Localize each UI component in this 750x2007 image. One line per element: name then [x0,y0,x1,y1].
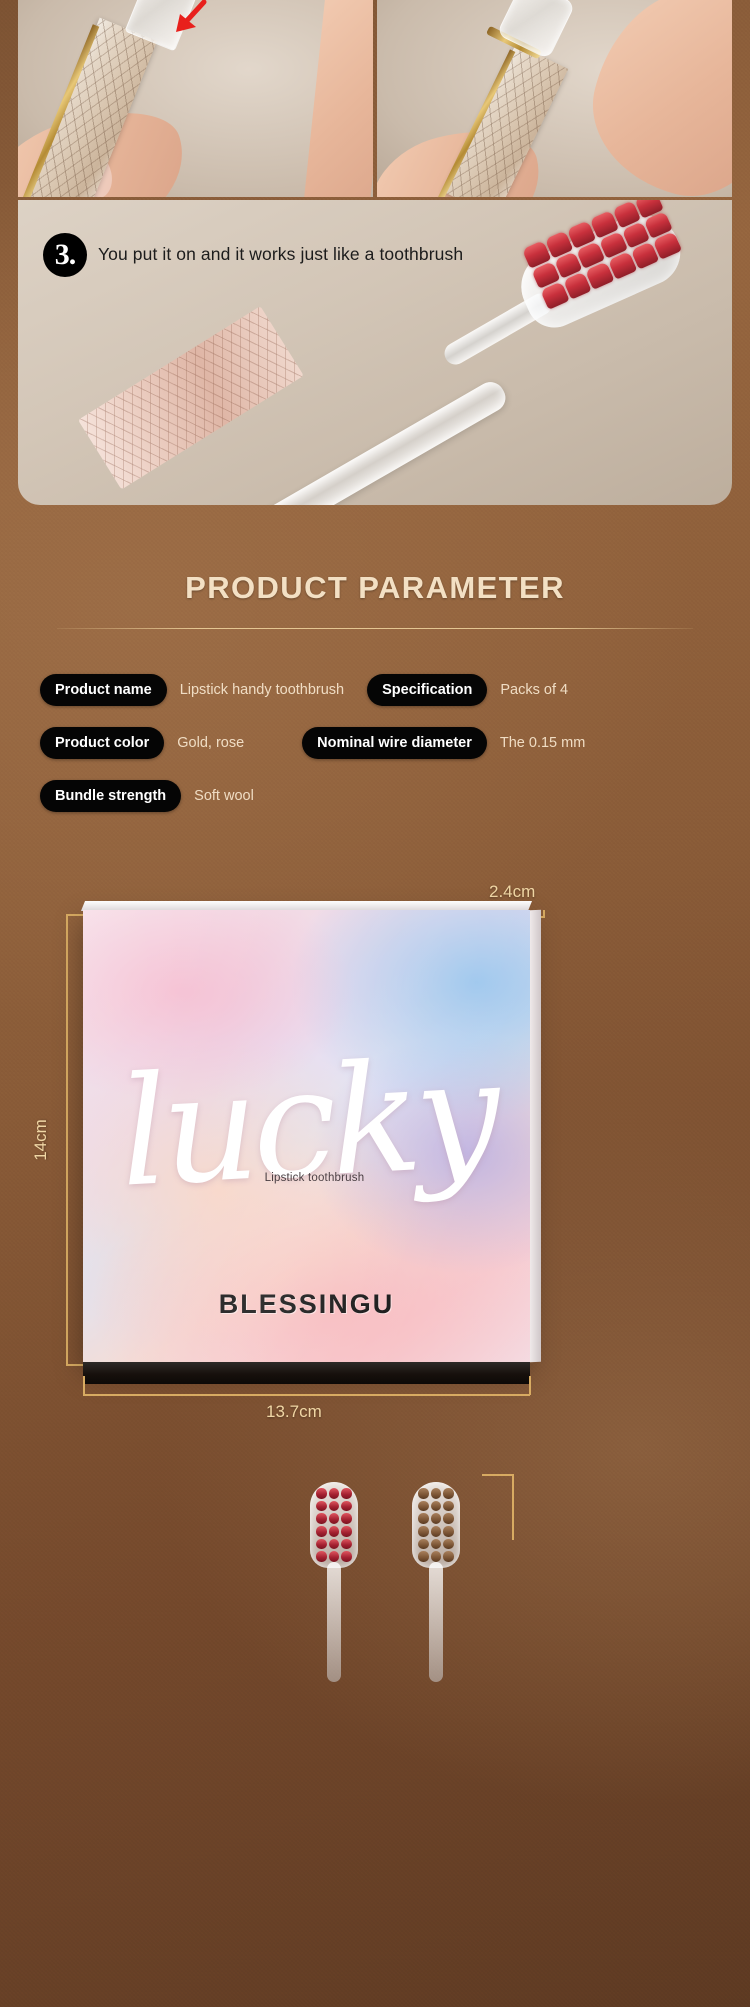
bristle [418,1539,429,1550]
bristle [431,1551,442,1562]
dimension-line-vertical [66,914,68,1365]
dimension-tick [66,914,84,916]
toothbrush-handle [236,377,511,505]
parameter-value: Soft wool [194,788,254,804]
parameter-label: Specification [367,674,487,706]
parameter-row: Product color Gold, rose Nominal wire di… [40,725,730,761]
box-bottom-edge [83,1362,530,1384]
bristle [329,1526,340,1537]
bristle [316,1488,327,1499]
comparison-bracket [512,1474,514,1540]
bristle [329,1501,340,1512]
dimension-tick [543,910,545,918]
bristle [341,1488,352,1499]
parameter-value: Packs of 4 [500,682,568,698]
dimension-label-width: 13.7cm [266,1402,322,1422]
parameter-row: Bundle strength Soft wool [40,778,730,814]
bristle [418,1551,429,1562]
box-front-face: lucky Lipstick toothbrush BLESSINGU [83,910,530,1362]
package-caption: Lipstick toothbrush [265,1172,365,1184]
bristle [341,1526,352,1537]
lipstick-tube-bottom [78,306,304,489]
bristle [431,1539,442,1550]
dimension-tick [529,1376,531,1395]
package-box-photo: lucky Lipstick toothbrush BLESSINGU [83,910,530,1362]
bristle [316,1501,327,1512]
bristle [431,1513,442,1524]
bristle [431,1488,442,1499]
bristle [418,1501,429,1512]
parameter-label: Nominal wire diameter [302,727,487,759]
step-photo-strip [18,0,732,197]
bristle [431,1501,442,1512]
photo-tube-open-right [377,0,732,197]
parameter-value: Gold, rose [177,735,244,751]
bristle [316,1551,327,1562]
dimension-label-depth: 2.4cm [489,882,535,902]
bristle [443,1526,454,1537]
step-3-card: 3. You put it on and it works just like … [18,200,732,505]
step-number-badge: 3. [43,233,87,277]
bristle [329,1513,340,1524]
brush-bristle-grid [418,1488,454,1562]
bristle [431,1526,442,1537]
parameter-value: Lipstick handy toothbrush [180,682,344,698]
down-left-arrow-icon [170,0,210,36]
dimension-tick [83,1376,85,1395]
comparison-bracket [482,1474,514,1476]
bristle [316,1526,327,1537]
dimension-tick [66,1364,84,1366]
parameter-label: Product color [40,727,164,759]
parameter-value: The 0.15 mm [500,735,585,751]
page-title: PRODUCT PARAMETER [0,570,750,606]
product-parameter-list: Product name Lipstick handy toothbrush S… [40,672,730,831]
parameter-label: Bundle strength [40,780,181,812]
parameter-label: Product name [40,674,167,706]
bristle [329,1488,340,1499]
bristle [316,1539,327,1550]
bristle [329,1539,340,1550]
bristle [316,1513,327,1524]
package-dimension-figure: 2.4cm 14cm lucky Lipstick toothbrush BLE… [0,880,750,1440]
bristle [341,1551,352,1562]
bristle [443,1513,454,1524]
bristle [341,1501,352,1512]
title-divider [57,628,693,629]
package-script-word: lucky [116,1039,498,1208]
dimension-label-height: 14cm [31,1119,51,1161]
bristle [418,1488,429,1499]
brush-bristle-grid [316,1488,352,1562]
bristle [443,1551,454,1562]
parameter-row: Product name Lipstick handy toothbrush S… [40,672,730,708]
bristle [443,1488,454,1499]
bristle [418,1513,429,1524]
bristle [341,1539,352,1550]
bristle [341,1513,352,1524]
brush-head-comparison [0,1460,750,2007]
brush-handle [429,1562,443,1682]
brush-handle [327,1562,341,1682]
bristle [443,1539,454,1550]
box-right-edge [530,910,541,1363]
bristle [418,1526,429,1537]
photo-tube-open-left [18,0,373,197]
bristle [443,1501,454,1512]
dimension-line-horizontal [83,1394,530,1396]
step-instruction-text: You put it on and it works just like a t… [98,244,463,265]
brand-logo: BLESSINGU [219,1289,395,1320]
bristle [329,1551,340,1562]
